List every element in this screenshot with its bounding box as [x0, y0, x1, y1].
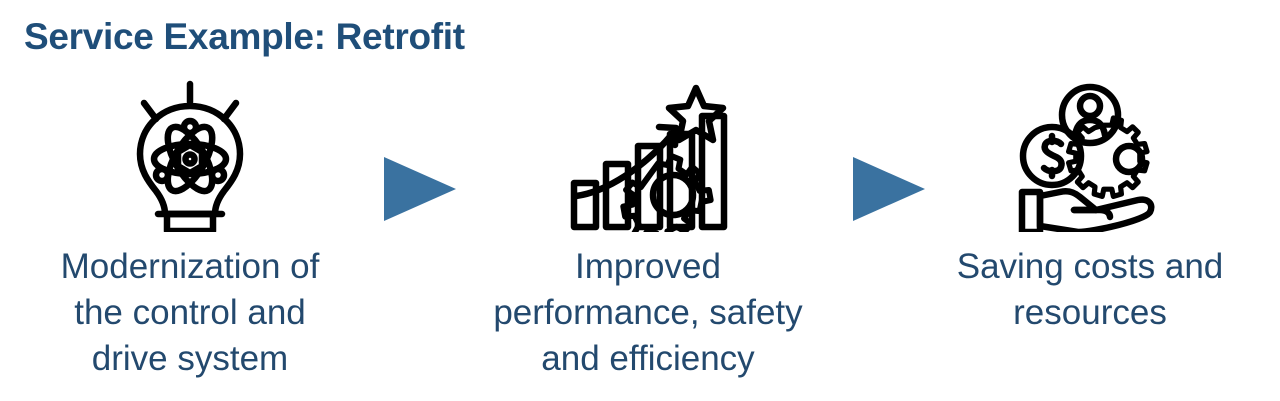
caption-line: Improved: [458, 244, 838, 290]
process-step-2: Improved performance, safety and efficie…: [458, 80, 838, 383]
process-step-3: Saving costs and resources: [908, 80, 1272, 336]
hand-holding-money-person-gear-icon: [908, 80, 1272, 238]
caption-line: and efficiency: [458, 336, 838, 382]
caption-line: Modernization of: [14, 244, 366, 290]
process-step-1: Modernization of the control and drive s…: [14, 80, 366, 383]
caption-line: performance, safety: [458, 290, 838, 336]
lightbulb-atom-icon: [14, 80, 366, 238]
step-1-caption: Modernization of the control and drive s…: [14, 244, 366, 383]
step-3-caption: Saving costs and resources: [908, 244, 1272, 336]
arrow-right-triangle-icon: [384, 157, 456, 221]
caption-line: resources: [908, 290, 1272, 336]
page-title: Service Example: Retrofit: [24, 16, 465, 59]
caption-line: Saving costs and: [908, 244, 1272, 290]
caption-line: the control and: [14, 290, 366, 336]
step-2-caption: Improved performance, safety and efficie…: [458, 244, 838, 383]
caption-line: drive system: [14, 336, 366, 382]
growth-chart-star-gear-icon: [458, 80, 838, 238]
